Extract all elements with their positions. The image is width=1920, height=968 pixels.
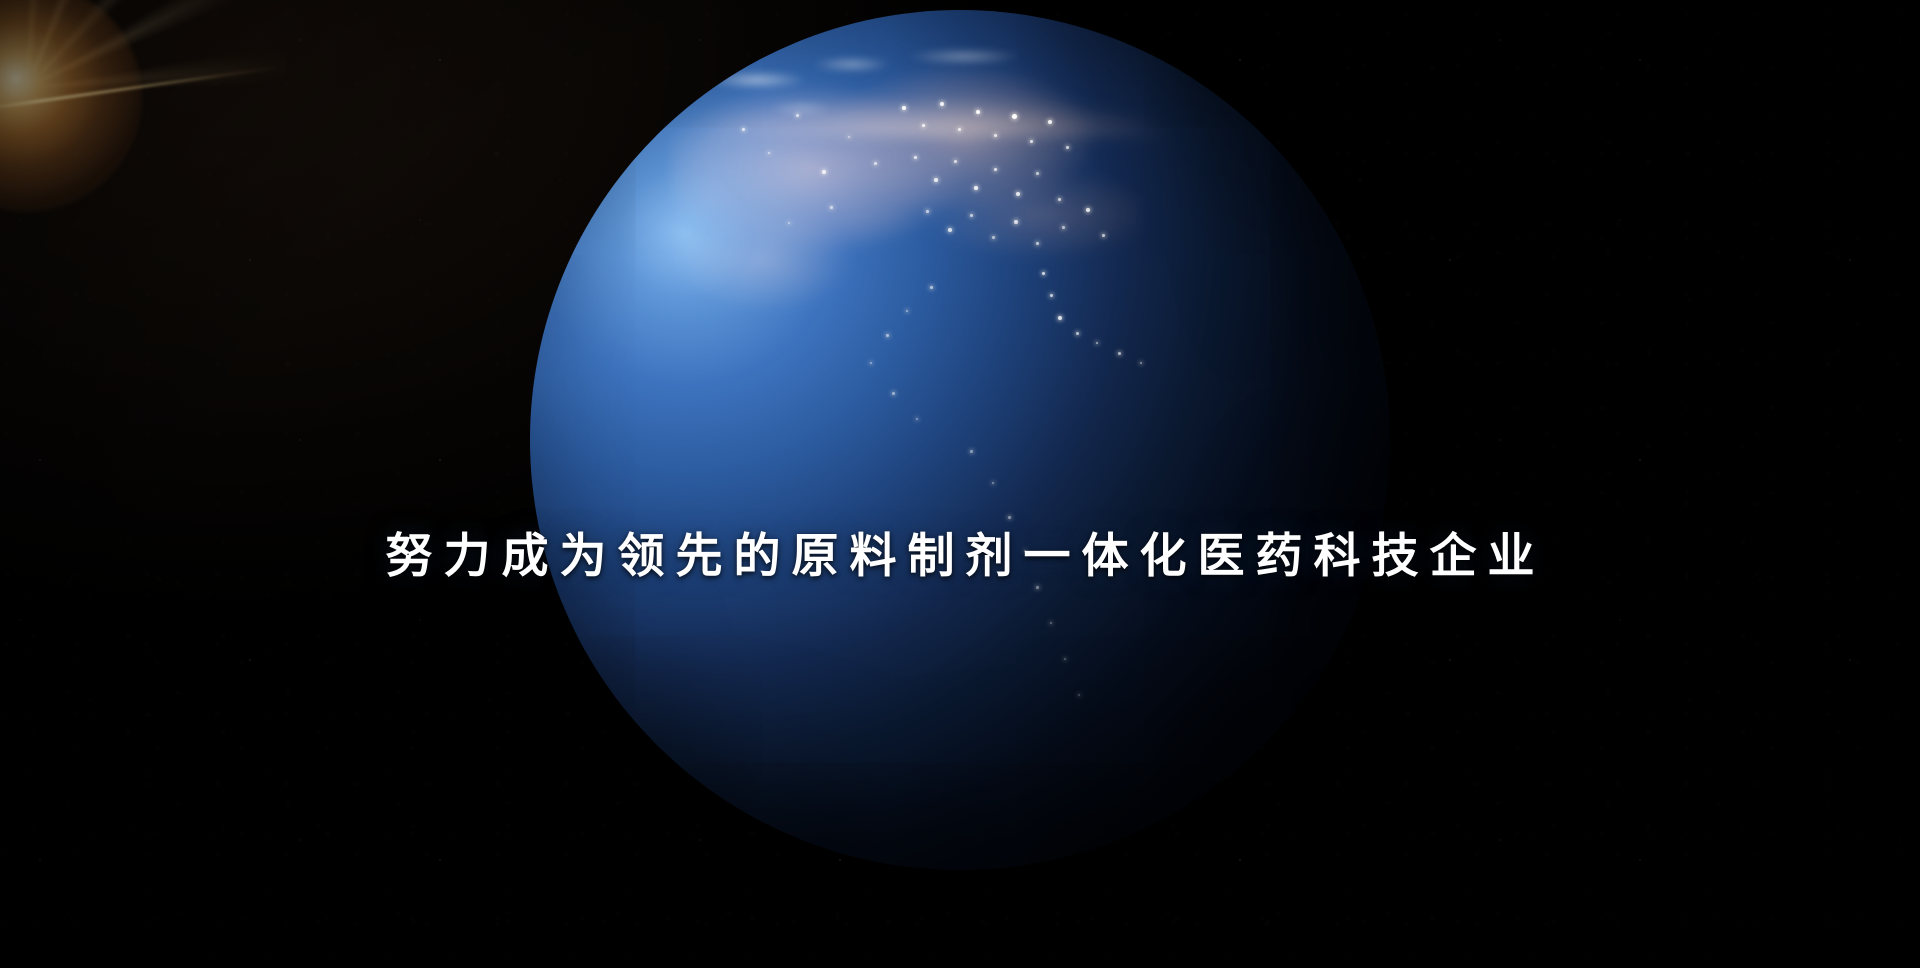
hero-headline: 努力成为领先的原料制剂一体化医药科技企业 xyxy=(0,528,1920,584)
hero-scene: 努力成为领先的原料制剂一体化医药科技企业 xyxy=(0,0,1920,968)
earth-globe xyxy=(530,10,1390,870)
atmosphere-limb-highlight xyxy=(530,10,1390,870)
